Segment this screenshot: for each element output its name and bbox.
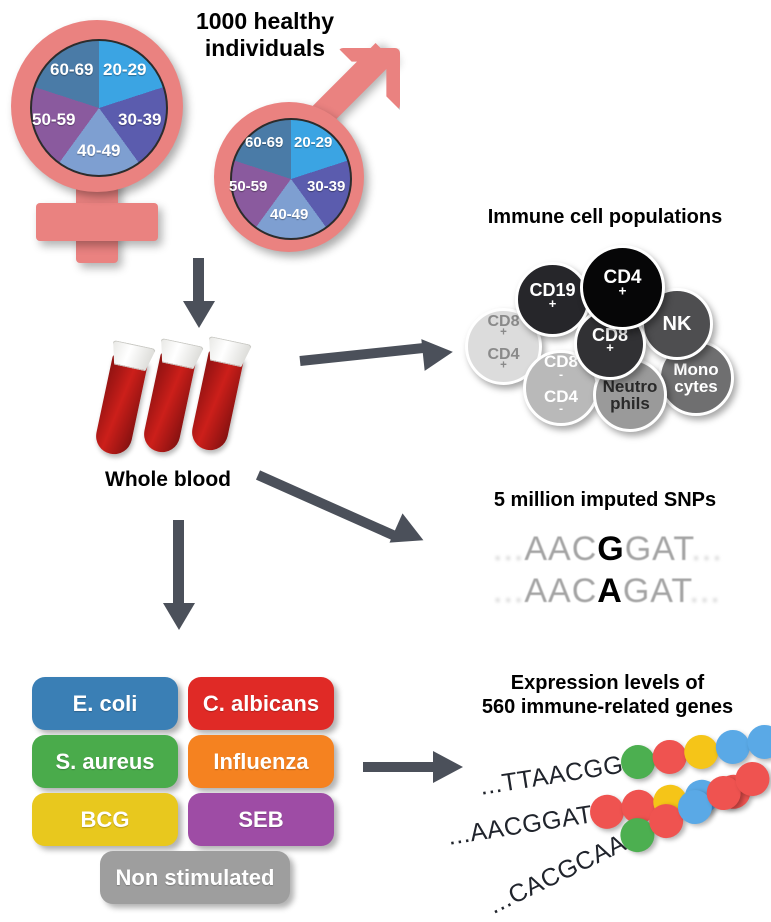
bubble-label-line2: CD4+ (487, 347, 519, 380)
immune-bubbles-group: CD8+ CD4+ CD19+ CD4+ NK CD8+ CD8- CD4- (465, 240, 765, 420)
bubble-label: NK (663, 314, 692, 334)
pie-label-50-59: 50-59 (32, 110, 75, 130)
pie-label-60-69-male: 60-69 (245, 134, 283, 151)
snp-sequence-row: ...AACGGAT... (493, 530, 723, 569)
snp-suffix: ... (689, 572, 720, 610)
expression-section-title: Expression levels of 560 immune-related … (450, 672, 765, 719)
snp-prefix: ... (493, 572, 524, 610)
snp-allele: G (597, 530, 624, 568)
bubble-label-line1: CD8+ (487, 314, 519, 347)
pie-label-20-29-male: 20-29 (294, 134, 332, 151)
stimulus-seb[interactable]: SEB (188, 793, 334, 846)
bubble-label: CD4+ (603, 268, 641, 307)
stimulus-influenza[interactable]: Influenza (188, 735, 334, 788)
snp-sequence-row: ...AACAGAT... (493, 572, 721, 611)
pie-label-40-49-male: 40-49 (270, 206, 308, 223)
bubble-label-line2: phils (603, 395, 658, 412)
bubble-label-line1: CD8- (544, 353, 578, 388)
immune-section-title: Immune cell populations (455, 206, 755, 230)
snp-allele: A (597, 572, 623, 610)
pie-label-60-69: 60-69 (50, 60, 93, 80)
gene-strand-sequence: ...TTAACGG (478, 750, 626, 801)
gene-bead (713, 728, 752, 767)
figure-canvas: 1000 healthy individuals 20-29 30-39 40-… (0, 0, 771, 922)
bubble-label-line2: CD4- (544, 388, 578, 423)
arrow-blood-to-snps (258, 460, 453, 555)
blood-tubes-group (100, 335, 250, 465)
arrow-blood-to-immune (300, 330, 465, 375)
stimulus-s-aureus[interactable]: S. aureus (32, 735, 178, 788)
female-symbol: 20-29 30-39 40-49 50-59 60-69 (8, 18, 188, 263)
male-symbol: 20-29 30-39 40-49 50-59 60-69 (208, 58, 408, 253)
stimulus-e-coli[interactable]: E. coli (32, 677, 178, 730)
gene-strand-sequence: ...AACGGAT (446, 800, 595, 852)
gene-bead (682, 733, 721, 772)
bubble-label: CD8+ (592, 326, 628, 363)
snp-suffix: ... (691, 530, 722, 568)
stimulus-non-stimulated[interactable]: Non stimulated (100, 851, 290, 904)
pie-label-20-29: 20-29 (103, 60, 146, 80)
snp-left: AAC (524, 572, 597, 610)
female-crossbar (36, 203, 158, 241)
pie-label-40-49: 40-49 (77, 141, 120, 161)
stimulus-label: C. albicans (203, 691, 319, 717)
stimulus-label: Non stimulated (116, 865, 275, 891)
pie-label-30-39: 30-39 (118, 110, 161, 130)
pie-label-50-59-male: 50-59 (229, 178, 267, 195)
bubble-cd4: CD4+ (580, 245, 665, 330)
stimulus-bcg[interactable]: BCG (32, 793, 178, 846)
arrow-stimuli-to-expression (363, 748, 473, 788)
arrow-individuals-to-blood (180, 258, 220, 330)
gene-bead (745, 723, 771, 762)
gene-bead (650, 738, 689, 777)
bubble-label-line1: Mono (673, 361, 718, 378)
stimulus-label: E. coli (73, 691, 138, 717)
stimulus-label: BCG (81, 807, 130, 833)
stimulus-label: Influenza (213, 749, 308, 775)
whole-blood-label: Whole blood (88, 468, 248, 492)
stimulus-label: SEB (238, 807, 283, 833)
gene-strands-group: ...TTAACGG ...AACGGAT ...CACGCAA (460, 740, 771, 915)
pie-label-30-39-male: 30-39 (307, 178, 345, 195)
snp-right: GAT (625, 530, 692, 568)
snp-right: GAT (623, 572, 690, 610)
stimulus-label: S. aureus (55, 749, 154, 775)
arrow-blood-to-stimuli (160, 520, 200, 640)
bubble-label-line1: Neutro (603, 378, 658, 395)
snp-left: AAC (524, 530, 597, 568)
snp-section-title: 5 million imputed SNPs (455, 489, 755, 513)
stimulus-c-albicans[interactable]: C. albicans (188, 677, 334, 730)
bubble-label-line2: cytes (673, 378, 718, 395)
snp-prefix: ... (493, 530, 524, 568)
bubble-label: CD19+ (529, 281, 575, 318)
